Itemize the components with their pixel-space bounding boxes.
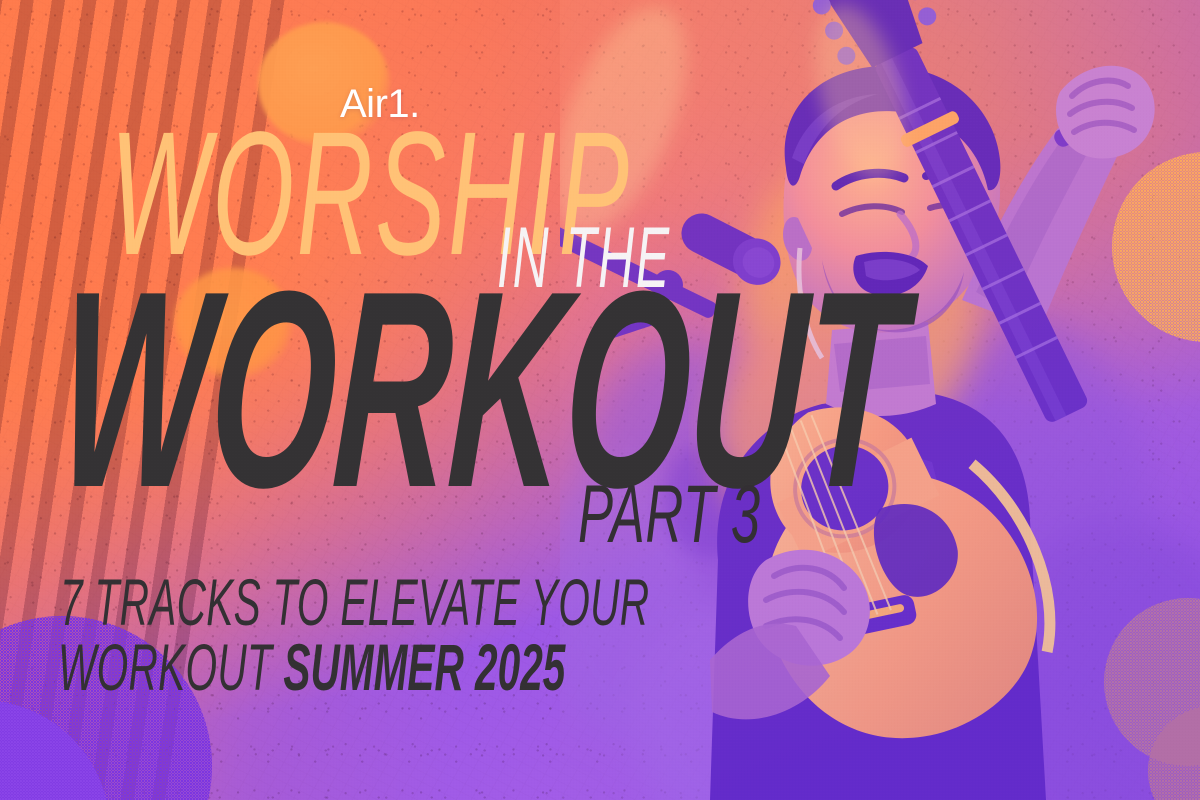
title-workout: WORKOUT xyxy=(55,278,908,502)
subtitle-workout-word: WORKOUT xyxy=(58,630,272,704)
subtitle-line-1: 7 TRACKS TO ELEVATE YOUR xyxy=(60,573,649,631)
text-layer: Air1. WORSHIP IN THE WORKOUT PART 3 7 TR… xyxy=(0,0,1200,800)
poster-canvas: Air1. WORSHIP IN THE WORKOUT PART 3 7 TR… xyxy=(0,0,1200,800)
subtitle-season-year: SUMMER 2025 xyxy=(283,630,565,704)
subtitle-line-2: WORKOUT SUMMER 2025 xyxy=(58,638,565,696)
title-part-number: PART 3 xyxy=(578,480,761,551)
